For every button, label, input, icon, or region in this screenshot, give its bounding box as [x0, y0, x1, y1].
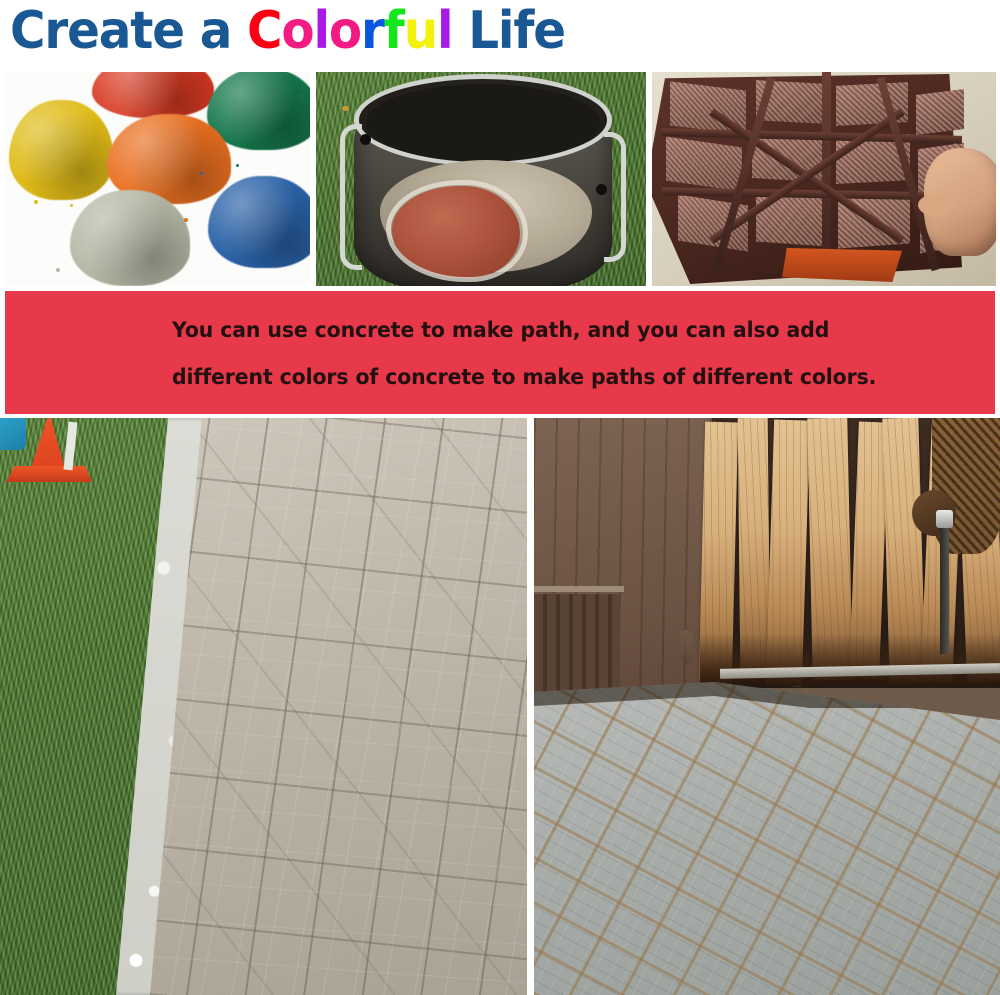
- bucket-handle-left: [340, 124, 362, 270]
- pigment-pile-gray: [70, 190, 190, 286]
- pigment-speck: [184, 218, 188, 222]
- mold-rib: [822, 72, 831, 278]
- title-segment-r: r: [361, 1, 384, 61]
- orange-cone-base: [6, 466, 92, 482]
- bucket-interior: [366, 84, 600, 162]
- title-segment-c: C: [247, 1, 281, 61]
- garden-light-head: [936, 510, 953, 528]
- mold-cell: [916, 89, 964, 135]
- pigment-pile-red: [92, 72, 214, 118]
- finished-path-lawn-photo: [0, 418, 527, 995]
- title-segment-create-a: Create a: [10, 1, 247, 61]
- title-segment-o1: o: [281, 1, 313, 61]
- promo-banner-text: You can use concrete to make path, and y…: [172, 307, 932, 401]
- garden-light-pole: [940, 514, 949, 654]
- title-segment-l2: l: [437, 1, 452, 61]
- title-segment-u: u: [404, 1, 437, 61]
- pigment-speck: [300, 94, 303, 97]
- path-joint-lines: [150, 418, 527, 995]
- cobblestone-patio: [534, 668, 1000, 995]
- title-segment-l1: l: [313, 1, 328, 61]
- title-segment-o2: o: [329, 1, 361, 61]
- marketing-infographic-page: Create a Colorful Life: [0, 0, 1000, 995]
- pigment-speck: [56, 268, 60, 272]
- bottom-photo-row: [0, 418, 1000, 995]
- banner-line-2: different colors of concrete to make pat…: [172, 354, 932, 401]
- pigment-speck: [70, 204, 73, 207]
- door-handle: [680, 630, 693, 664]
- title-segment-life: Life: [452, 1, 565, 61]
- finished-patio-fence-photo: [534, 418, 1000, 995]
- bucket-handle-right: [604, 132, 626, 262]
- title-bar: Create a Colorful Life: [0, 0, 1000, 70]
- mold-wet-concrete: [782, 248, 902, 282]
- banner-line-1: You can use concrete to make path, and y…: [172, 307, 932, 354]
- pigment-powders-photo: [4, 72, 310, 286]
- path-maker-mold-photo: [652, 72, 996, 286]
- blue-play-element: [0, 418, 26, 450]
- pigment-pile-yellow: [9, 100, 113, 200]
- pigment-speck: [34, 200, 38, 204]
- pigment-speck: [200, 172, 203, 175]
- title-segment-f: f: [384, 1, 404, 61]
- mixing-bucket-photo: [316, 72, 646, 286]
- top-photo-row: [0, 72, 1000, 286]
- promo-banner: You can use concrete to make path, and y…: [5, 291, 995, 414]
- thumb: [918, 194, 954, 216]
- pigment-speck: [236, 164, 239, 167]
- page-title: Create a Colorful Life: [10, 1, 565, 61]
- door-frame-highlight: [534, 586, 624, 592]
